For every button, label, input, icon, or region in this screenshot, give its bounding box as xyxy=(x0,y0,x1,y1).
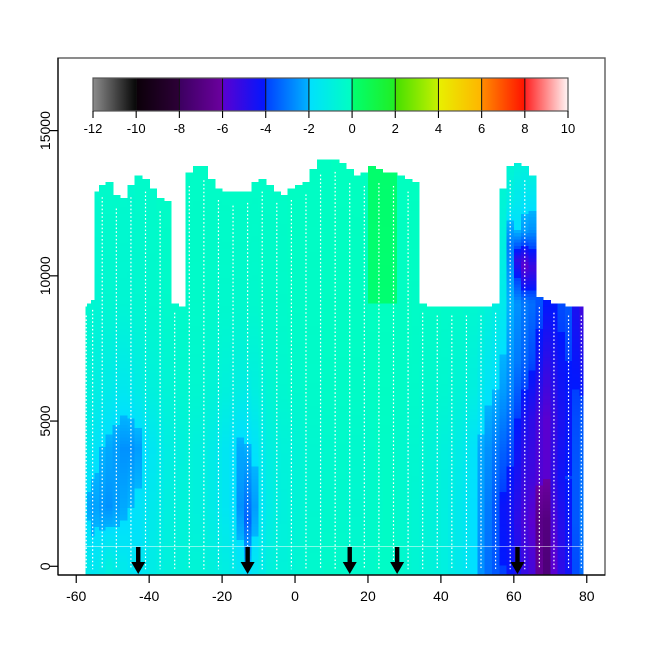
y-tick-label: 0 xyxy=(37,562,53,570)
colorbar-segment xyxy=(525,78,569,111)
colorbar-segment xyxy=(482,78,526,111)
x-tick-label: -60 xyxy=(66,588,86,604)
colorbar: -12-10-8-6-4-20246810 xyxy=(84,78,576,136)
colorbar-tick-label: 4 xyxy=(435,121,442,136)
x-tick-label: 80 xyxy=(579,588,595,604)
data-curtain xyxy=(85,160,583,575)
colorbar-segment xyxy=(352,78,396,111)
colorbar-segment xyxy=(223,78,267,111)
plot-page: HIPPO4 Northbound CO2_QCLS_dtr 20110628,… xyxy=(0,0,650,650)
x-tick-label: 20 xyxy=(360,588,376,604)
x-tick-label: 60 xyxy=(506,588,522,604)
colorbar-tick-label: -6 xyxy=(217,121,229,136)
colorbar-tick-label: 2 xyxy=(392,121,399,136)
colorbar-segment xyxy=(136,78,180,111)
colorbar-segment xyxy=(93,78,137,111)
colorbar-segment xyxy=(395,78,439,111)
colorbar-tick-label: -8 xyxy=(174,121,186,136)
colorbar-tick-label: 10 xyxy=(561,121,575,136)
x-tick-label: -20 xyxy=(212,588,232,604)
colorbar-tick-label: -2 xyxy=(303,121,315,136)
x-tick-label: 0 xyxy=(291,588,299,604)
colorbar-tick-label: -10 xyxy=(127,121,146,136)
y-tick-label: 5000 xyxy=(37,405,53,436)
y-tick-label: 10000 xyxy=(37,256,53,295)
colorbar-tick-label: 8 xyxy=(521,121,528,136)
colorbar-segment xyxy=(266,78,310,111)
colorbar-tick-label: 6 xyxy=(478,121,485,136)
colorbar-tick-label: 0 xyxy=(348,121,355,136)
colorbar-tick-label: -4 xyxy=(260,121,272,136)
colorbar-segment xyxy=(438,78,482,111)
colorbar-segment xyxy=(309,78,353,111)
figure-canvas: -60-40-20020406080050001000015000-12-10-… xyxy=(0,0,650,650)
colorbar-tick-label: -12 xyxy=(84,121,103,136)
y-tick-label: 15000 xyxy=(37,111,53,150)
x-tick-label: -40 xyxy=(139,588,159,604)
colorbar-segment xyxy=(179,78,223,111)
x-tick-label: 40 xyxy=(433,588,449,604)
